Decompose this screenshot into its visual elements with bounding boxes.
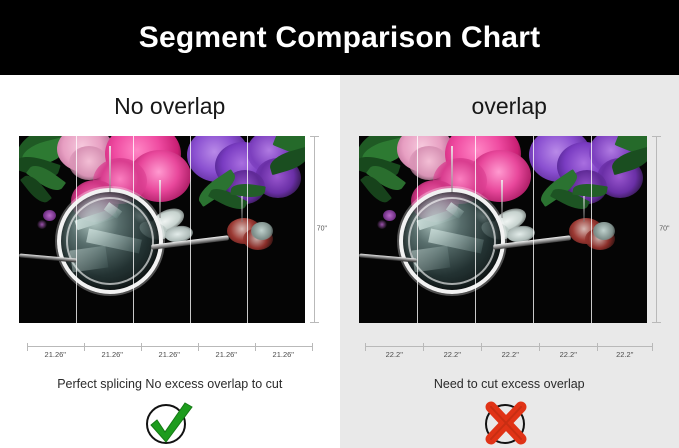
segment-label: 21.26" — [198, 350, 255, 359]
segment-seam — [533, 136, 534, 323]
segment-label: 22.2" — [481, 350, 539, 359]
segment-label: 22.2" — [597, 350, 652, 359]
height-label-no-overlap: 70" — [317, 226, 327, 233]
magnifier-stem — [109, 146, 111, 192]
segment-seam — [133, 136, 134, 323]
segment-label: 22.2" — [539, 350, 597, 359]
panel-overlap: overlap — [340, 75, 679, 448]
comparison-chart-page: Segment Comparison Chart No overlap — [0, 0, 679, 448]
segment-seam — [247, 136, 248, 323]
page-title: Segment Comparison Chart — [139, 23, 541, 53]
panel-heading-overlap: overlap — [472, 95, 547, 125]
magnifier-lens-icon — [57, 188, 163, 294]
segment-seam — [417, 136, 418, 323]
cross-mark-icon — [483, 401, 535, 448]
caption-overlap: Need to cut excess overlap — [434, 378, 585, 391]
check-mark-icon — [144, 401, 196, 448]
segment-seam — [190, 136, 191, 323]
segment-seam — [76, 136, 77, 323]
segment-label: 21.26" — [84, 350, 141, 359]
height-label-overlap: 70" — [659, 226, 669, 233]
magnifier-lens-icon — [399, 188, 505, 294]
mural-image-no-overlap — [19, 136, 305, 323]
segment-label: 21.26" — [255, 350, 312, 359]
segment-seam — [591, 136, 592, 323]
figure-no-overlap: 70" — [19, 136, 321, 339]
caption-no-overlap: Perfect splicing No excess overlap to cu… — [57, 378, 282, 391]
segment-label: 22.2" — [423, 350, 481, 359]
verdict-overlap — [483, 401, 535, 448]
panel-no-overlap: No overlap — [0, 75, 340, 448]
segment-label: 21.26" — [27, 350, 84, 359]
title-banner: Segment Comparison Chart — [0, 0, 679, 75]
panels-container: No overlap — [0, 75, 679, 448]
segment-label: 22.2" — [365, 350, 423, 359]
panel-heading-no-overlap: No overlap — [114, 95, 225, 125]
verdict-no-overlap — [144, 401, 196, 448]
magnifier-stem — [451, 146, 453, 192]
height-dimension-overlap: 70" — [652, 136, 674, 323]
figure-overlap: 70" — [359, 136, 659, 339]
segment-seam — [475, 136, 476, 323]
mural-image-overlap — [359, 136, 647, 323]
segment-label: 21.26" — [141, 350, 198, 359]
height-dimension-no-overlap: 70" — [310, 136, 332, 323]
width-dimensions-overlap: 22.2" 22.2" 22.2" 22.2" 22.2" — [365, 343, 653, 365]
width-dimensions-no-overlap: 21.26" 21.26" 21.26" 21.26" 21.26" — [27, 343, 313, 365]
